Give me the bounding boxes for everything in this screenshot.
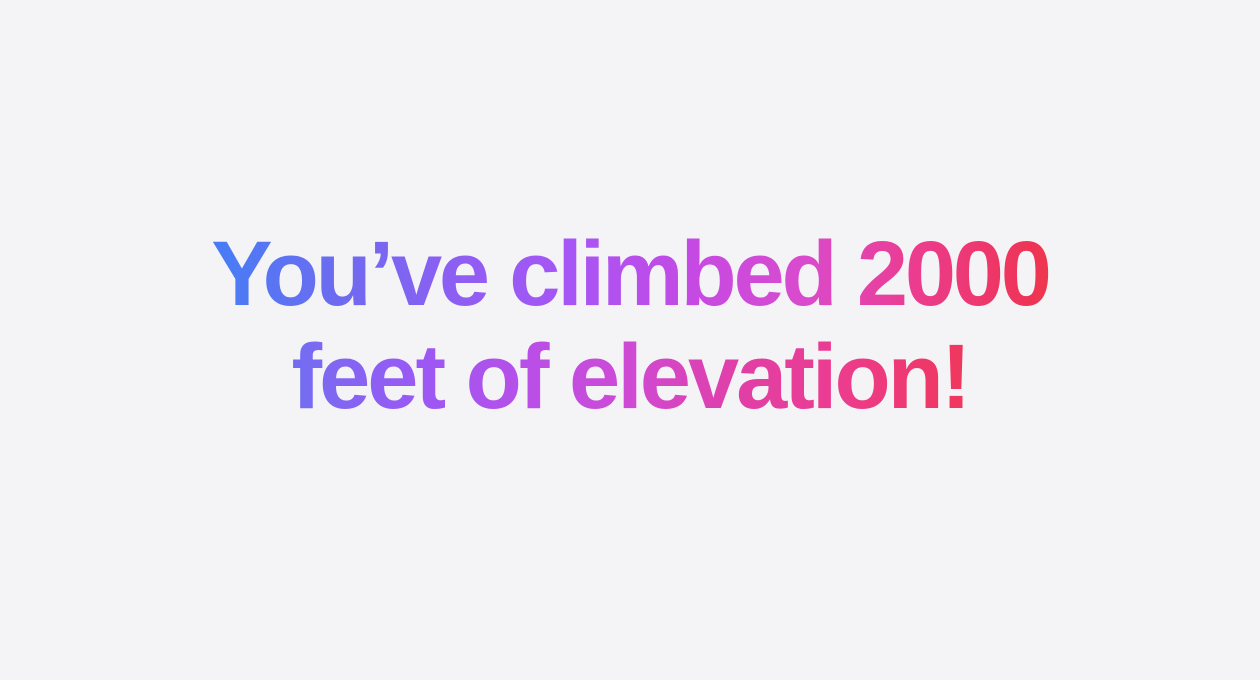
achievement-screen: You’ve climbed 2000 feet of elevation! (0, 0, 1260, 680)
headline-line-2: feet of elevation! (0, 326, 1260, 429)
achievement-headline: You’ve climbed 2000 feet of elevation! (0, 223, 1260, 457)
headline-line-1: You’ve climbed 2000 (0, 223, 1260, 326)
